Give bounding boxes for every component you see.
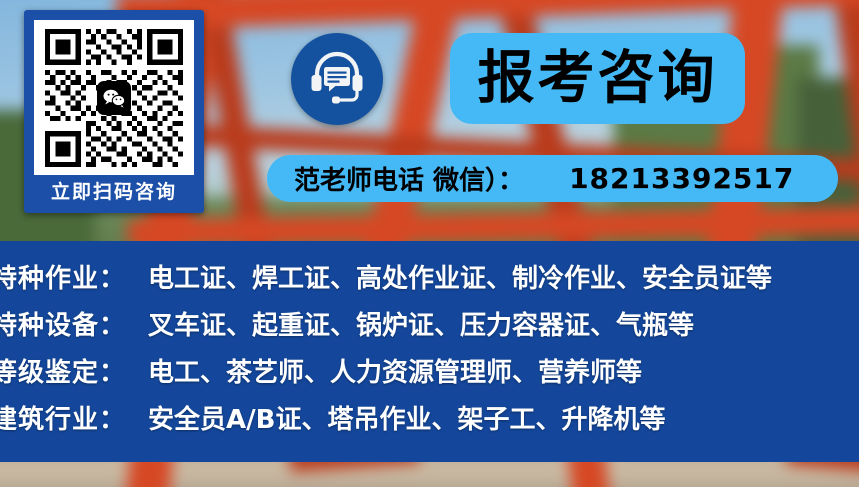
advertisement-banner: 立即扫码咨询 报考咨询 范老师电话 微信）： 18213392517 特种作业：… xyxy=(0,0,859,487)
category-items: 叉车证、起重证、锅炉证、压力容器证、气瓶等 xyxy=(148,305,694,342)
category-label: 特种设备： xyxy=(0,305,126,342)
wechat-glyph xyxy=(102,88,126,108)
contact-label: 范老师电话 微信）： xyxy=(294,160,524,197)
category-row: 特种设备： 叉车证、起重证、锅炉证、压力容器证、气瓶等 xyxy=(0,300,859,347)
qr-code-image[interactable] xyxy=(34,20,194,175)
category-items: 电工、茶艺师、人力资源管理师、营养师等 xyxy=(148,352,642,389)
course-category-panel: 特种作业： 电工证、焊工证、高处作业证、制冷作业、安全员证等 特种设备： 叉车证… xyxy=(0,241,859,462)
category-row: 特种作业： 电工证、焊工证、高处作业证、制冷作业、安全员证等 xyxy=(0,253,859,300)
category-row: 等级鉴定： 电工、茶艺师、人力资源管理师、营养师等 xyxy=(0,347,859,394)
category-row: 建筑行业： 安全员A/B证、塔吊作业、架子工、升降机等 xyxy=(0,394,859,441)
category-items: 电工证、焊工证、高处作业证、制冷作业、安全员证等 xyxy=(148,258,772,295)
headset-glyph xyxy=(307,50,367,108)
qr-code-card[interactable]: 立即扫码咨询 xyxy=(24,10,204,213)
category-label: 特种作业： xyxy=(0,258,126,295)
category-items: 安全员A/B证、塔吊作业、架子工、升降机等 xyxy=(148,399,665,436)
category-label: 等级鉴定： xyxy=(0,352,126,389)
headset-support-icon xyxy=(291,33,383,125)
page-title: 报考咨询 xyxy=(478,50,718,107)
contact-number[interactable]: 18213392517 xyxy=(569,162,794,195)
wechat-icon xyxy=(97,81,131,115)
category-label: 建筑行业： xyxy=(0,399,126,436)
qr-card-label: 立即扫码咨询 xyxy=(24,175,204,211)
consultation-title-pill: 报考咨询 xyxy=(450,33,745,124)
contact-phone-pill[interactable]: 范老师电话 微信）： 18213392517 xyxy=(267,155,838,202)
